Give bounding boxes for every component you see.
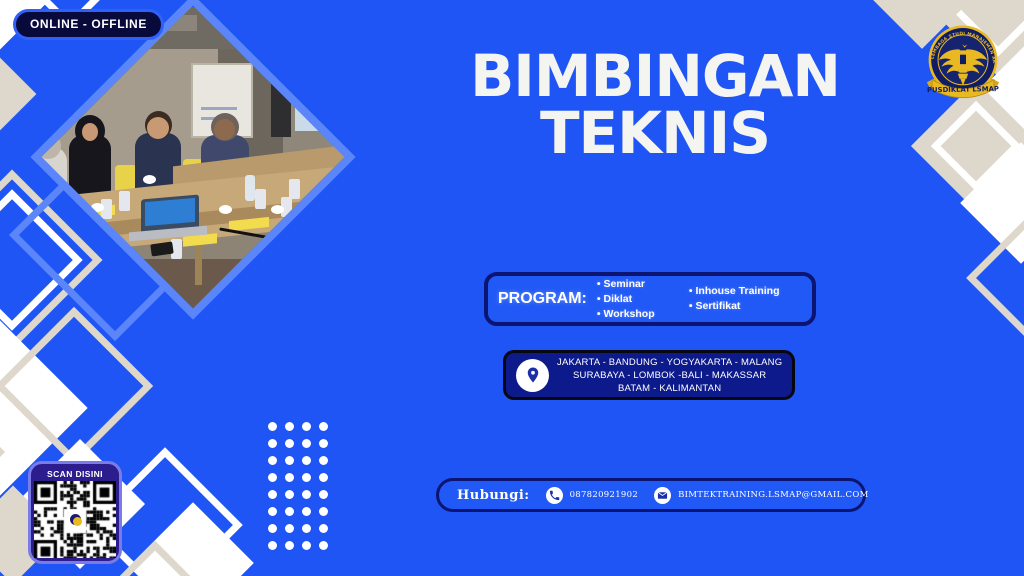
location-lines: JAKARTA - BANDUNG - YOGYAKARTA - MALANG … (557, 356, 782, 395)
decor-dot (285, 524, 294, 533)
decor-dot (319, 507, 328, 516)
page-title: BIMBINGAN TEKNIS (440, 48, 870, 162)
program-box: PROGRAM: Seminar Diklat Workshop Inhouse… (484, 272, 816, 326)
phone-number: 087820921902 (570, 490, 639, 500)
decor-dot (268, 422, 277, 431)
decor-dot (268, 490, 277, 499)
decor-dot (302, 473, 311, 482)
email-address: BIMTEKTRAINING.LSMAP@GMAIL.COM (678, 490, 869, 500)
decor-dot (268, 456, 277, 465)
title-line-1: BIMBINGAN (440, 48, 870, 105)
decor-dot (268, 541, 277, 550)
decor-dot (302, 507, 311, 516)
badge-online-offline: ONLINE - OFFLINE (13, 9, 164, 40)
program-column-1: Seminar Diklat Workshop (597, 277, 689, 322)
program-item: Workshop (597, 307, 689, 322)
decor-dot (302, 524, 311, 533)
decor-diamond (0, 307, 153, 465)
qr-code-icon[interactable] (34, 481, 116, 558)
poster-canvas: ONLINE - OFFLINE (0, 0, 1024, 576)
decor-dot (285, 507, 294, 516)
decor-diamond (0, 52, 36, 137)
qr-label: SCAN DISINI (47, 469, 103, 479)
envelope-icon (654, 487, 671, 504)
decor-dot (268, 439, 277, 448)
svg-text:PUSDIKLAT LSMAP: PUSDIKLAT LSMAP (927, 85, 999, 94)
location-line: JAKARTA - BANDUNG - YOGYAKARTA - MALANG (557, 356, 782, 369)
location-box: JAKARTA - BANDUNG - YOGYAKARTA - MALANG … (503, 350, 795, 400)
decor-dot (302, 422, 311, 431)
program-item: Seminar (597, 277, 689, 292)
decor-dot (319, 473, 328, 482)
decor-dot (302, 456, 311, 465)
decor-diamond (0, 189, 83, 330)
title-line-2: TEKNIS (440, 105, 870, 162)
pusdiklat-lsmap-logo: LEMBAGA STUDI MANAJEMEN AKUNTANSI DAN PE… (920, 22, 1006, 108)
program-item: Diklat (597, 292, 689, 307)
program-item: Sertifikat (689, 299, 780, 314)
training-photo (30, 7, 355, 307)
contact-label: Hubungi: (457, 488, 530, 503)
decor-diamond (132, 502, 254, 576)
decor-dot (319, 541, 328, 550)
decor-dot (319, 456, 328, 465)
decor-dot (285, 541, 294, 550)
program-item: Inhouse Training (689, 284, 780, 299)
decor-dot (285, 490, 294, 499)
decor-dot (302, 439, 311, 448)
decor-dot (268, 524, 277, 533)
location-line: SURABAYA - LOMBOK -BALI - MAKASSAR (557, 369, 782, 382)
contact-bar: Hubungi: 087820921902 BIMTEKTRAINING.LSM… (436, 478, 866, 512)
decor-diamond (966, 210, 1024, 346)
decor-dot (319, 490, 328, 499)
program-label: PROGRAM: (498, 290, 587, 308)
phone-icon (546, 487, 563, 504)
map-pin-icon (516, 359, 549, 392)
contact-email[interactable]: BIMTEKTRAINING.LSMAP@GMAIL.COM (654, 487, 869, 504)
decor-dot (302, 490, 311, 499)
location-line: BATAM - KALIMANTAN (557, 382, 782, 395)
decor-dot (268, 473, 277, 482)
qr-scan-card[interactable]: SCAN DISINI (28, 461, 122, 564)
decor-dot (285, 456, 294, 465)
decor-dot (285, 439, 294, 448)
decor-diamond (960, 142, 1024, 264)
decor-dot (268, 507, 277, 516)
decor-dot (319, 524, 328, 533)
decor-dot (319, 439, 328, 448)
qr-center-logo (68, 512, 83, 527)
program-column-2: Inhouse Training Sertifikat (689, 284, 780, 314)
decor-dot (285, 473, 294, 482)
decor-diamond (931, 101, 1022, 192)
decor-dot-grid (268, 422, 331, 553)
decor-diamond (0, 421, 5, 483)
decor-dot (319, 422, 328, 431)
decor-dot (285, 422, 294, 431)
decor-dot (302, 541, 311, 550)
contact-phone[interactable]: 087820921902 (546, 487, 639, 504)
photo-diamond-frame (30, 0, 355, 320)
